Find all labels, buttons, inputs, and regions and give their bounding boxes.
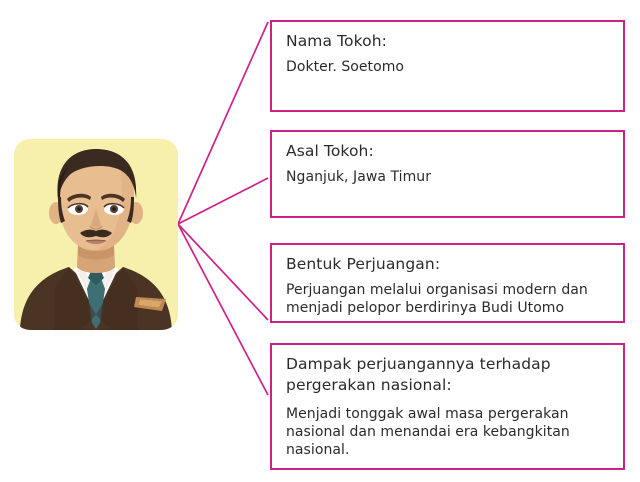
info-box-body: Perjuangan melalui organisasi modern dan… bbox=[286, 281, 611, 317]
info-box-dampak-perjuangan: Dampak perjuangannya terhadap pergerakan… bbox=[270, 343, 625, 470]
info-box-body: Nganjuk, Jawa Timur bbox=[286, 168, 611, 186]
connector-line-3 bbox=[178, 224, 268, 320]
info-box-title: Nama Tokoh: bbox=[286, 31, 611, 52]
info-box-body: Menjadi tonggak awal masa pergerakan nas… bbox=[286, 405, 611, 460]
info-box-title: Bentuk Perjuangan: bbox=[286, 254, 611, 275]
info-box-bentuk-perjuangan: Bentuk Perjuangan: Perjuangan melalui or… bbox=[270, 243, 625, 323]
info-box-asal-tokoh: Asal Tokoh: Nganjuk, Jawa Timur bbox=[270, 130, 625, 218]
info-box-title: Dampak perjuangannya terhadap pergerakan… bbox=[286, 354, 611, 396]
portrait-illustration bbox=[14, 139, 178, 330]
diagram-canvas: Nama Tokoh: Dokter. Soetomo Asal Tokoh: … bbox=[0, 0, 640, 482]
connector-line-4 bbox=[178, 224, 268, 395]
connector-line-2 bbox=[178, 178, 268, 224]
info-box-nama-tokoh: Nama Tokoh: Dokter. Soetomo bbox=[270, 20, 625, 112]
info-box-title: Asal Tokoh: bbox=[286, 141, 611, 162]
portrait-figure bbox=[14, 139, 178, 330]
connector-line-1 bbox=[178, 22, 268, 224]
info-box-body: Dokter. Soetomo bbox=[286, 58, 611, 76]
